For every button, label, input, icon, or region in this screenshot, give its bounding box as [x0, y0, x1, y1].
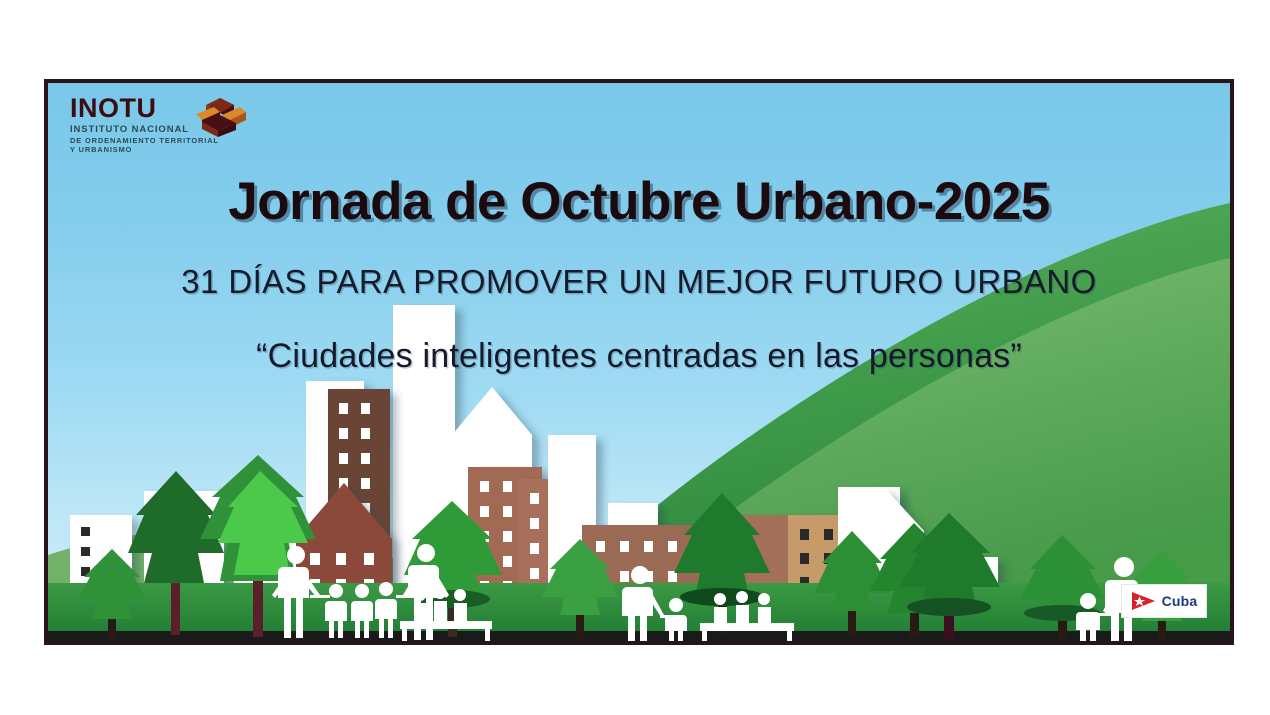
ground-path	[48, 631, 1230, 641]
cuba-badge: Cuba	[1122, 585, 1206, 617]
poster-frame: INOTU INSTITUTO NACIONAL DE ORDENAMIENTO…	[44, 79, 1234, 645]
poster-headline: Jornada de Octubre Urbano-2025	[48, 171, 1230, 232]
logo-line1: INSTITUTO NACIONAL	[70, 124, 285, 135]
poster-quote: “Ciudades inteligentes centradas en las …	[48, 337, 1230, 376]
inotu-logo: INOTU INSTITUTO NACIONAL DE ORDENAMIENTO…	[70, 95, 285, 165]
poster-subheadline: 31 DÍAS PARA PROMOVER UN MEJOR FUTURO UR…	[48, 263, 1230, 301]
cuba-flag-icon	[1131, 591, 1157, 611]
cuba-badge-label: Cuba	[1162, 593, 1198, 609]
logo-line3: Y URBANISMO	[70, 145, 285, 154]
logo-wordmark: INOTU	[70, 95, 285, 122]
screenshot-canvas: INOTU INSTITUTO NACIONAL DE ORDENAMIENTO…	[0, 0, 1270, 715]
logo-line2: DE ORDENAMIENTO TERRITORIAL	[70, 136, 285, 145]
inotu-isometric-blocks-icon	[192, 96, 250, 138]
